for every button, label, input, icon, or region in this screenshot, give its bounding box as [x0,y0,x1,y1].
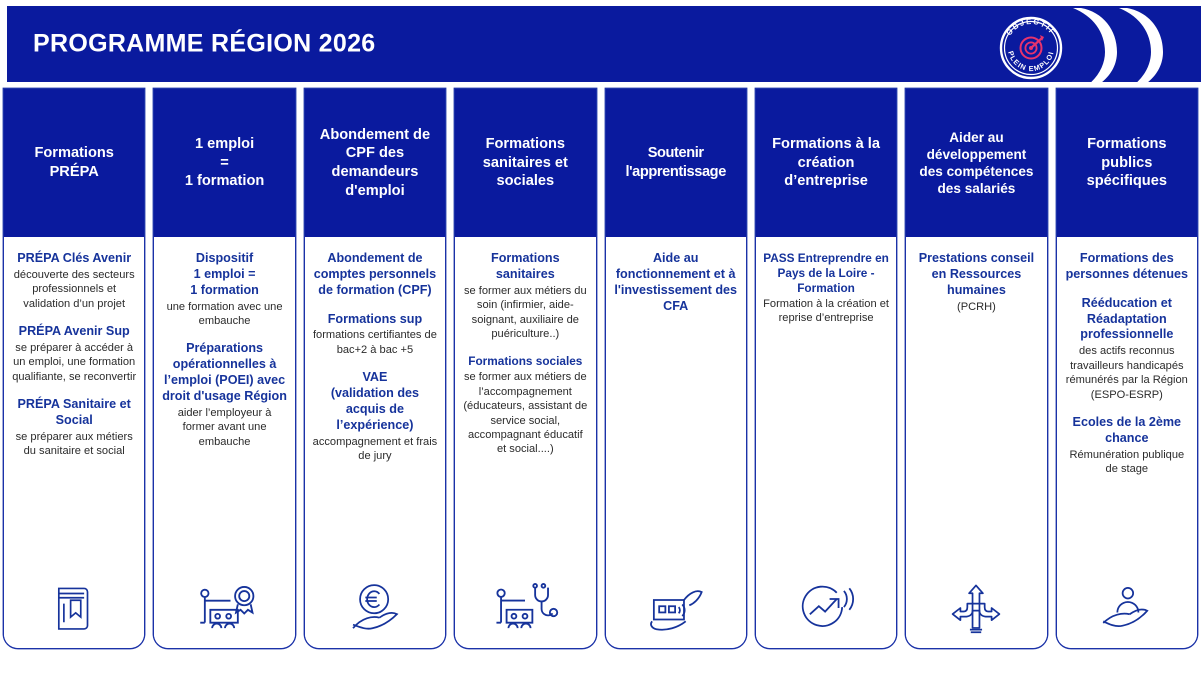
target-dart-icon [1021,35,1045,59]
block-title: PRÉPA Sanitaire et Social [11,397,137,429]
card-block: Aide au fonctionnement et à l'investisse… [613,251,739,314]
block-title: Formations sup [312,312,438,328]
brand-swoosh-marks [1073,8,1201,82]
block-title: PRÉPA Clés Avenir [11,251,137,267]
card-block: Prestations conseil en Ressources humain… [913,251,1039,314]
card-header: Formations sanitaires et sociales [455,89,595,237]
card-header: 1 emploi=1 formation [154,89,294,237]
card-block: Dispositif1 emploi =1 formation une form… [161,251,287,328]
three-way-arrows-icon [913,562,1039,648]
card-body: Abondement de comptes personnels de form… [305,237,445,648]
block-title: Ecoles de la 2ème chance [1064,415,1190,447]
card-block: Rééducation et Réadaptation professionne… [1064,296,1190,402]
block-subtitle: se former aux métiers de l’accompagnemen… [462,370,588,457]
card-1-emploi-1-formation[interactable]: 1 emploi=1 formation Dispositif1 emploi … [154,89,294,648]
block-title: Formations sanitaires [462,251,588,283]
card-block: PRÉPA Sanitaire et Social se préparer au… [11,397,137,459]
block-title: Formations sociales [462,354,588,369]
poster-root: PROGRAMME RÉGION 2026 OBJECTIF PLEIN EMP… [0,0,1201,680]
block-subtitle: découverte des secteurs professionnels e… [11,268,137,311]
block-subtitle: des actifs reconnus travailleurs handica… [1064,344,1190,402]
card-block: Formations des personnes détenues [1064,251,1190,283]
card-soutenir-apprentissage[interactable]: Soutenir l'apprentissage Aide au fonctio… [606,89,746,648]
block-subtitle: Rémunération publique de stage [1064,448,1190,477]
block-title: VAE(validation des acquis de l’expérienc… [312,370,438,433]
training-award-icon [161,562,287,648]
card-block: Abondement de comptes personnels de form… [312,251,438,299]
card-block: PRÉPA Avenir Sup se préparer à accéder à… [11,324,137,384]
block-title: Préparations opérationnelles à l’emploi … [161,341,287,404]
block-title: Formations des personnes détenues [1064,251,1190,283]
euro-hand-icon [312,562,438,648]
card-body: Formations des personnes détenues Rééduc… [1057,237,1197,648]
card-body: PASS Entreprendre en Pays de la Loire - … [756,237,896,648]
card-formations-sanitaires-sociales[interactable]: Formations sanitaires et sociales Format… [455,89,595,648]
block-title: Dispositif1 emploi =1 formation [161,251,287,299]
growth-arrow-icon [763,562,889,648]
card-formations-prepa[interactable]: Formations PRÉPA PRÉPA Clés Avenir décou… [4,89,144,648]
stethoscope-training-icon [462,562,588,648]
card-formations-creation-entreprise[interactable]: Formations à la création d’entreprise PA… [756,89,896,648]
card-formations-publics-specifiques[interactable]: Formations publics spécifiques Formation… [1057,89,1197,648]
card-header: Abondement de CPF des demandeurs d'emplo… [305,89,445,237]
svg-text:OBJECTIF: OBJECTIF [1004,17,1057,37]
block-subtitle: se préparer à accéder à un emploi, une f… [11,341,137,384]
objectif-plein-emploi-logo: OBJECTIF PLEIN EMPLOI [997,14,1065,82]
block-subtitle: se préparer aux métiers du sanitaire et … [11,430,137,459]
page-title: PROGRAMME RÉGION 2026 [33,30,375,59]
block-title: PRÉPA Avenir Sup [11,324,137,340]
block-subtitle: se former aux métiers du soin (infirmier… [462,284,588,342]
card-header: Formations à la création d’entreprise [756,89,896,237]
block-subtitle: formations certifiantes de bac+2 à bac +… [312,328,438,357]
card-body: Dispositif1 emploi =1 formation une form… [154,237,294,648]
card-header: Formations publics spécifiques [1057,89,1197,237]
block-subtitle: Formation à la création et reprise d’ent… [763,297,889,326]
block-title: Abondement de comptes personnels de form… [312,251,438,299]
block-title: Aide au fonctionnement et à l'investisse… [613,251,739,314]
logo-top-arc-text: OBJECTIF [1004,17,1057,37]
card-block: Formations sociales se former aux métier… [462,354,588,456]
card-body: Prestations conseil en Ressources humain… [906,237,1046,648]
card-abondement-cpf[interactable]: Abondement de CPF des demandeurs d'emplo… [305,89,445,648]
block-subtitle: aider l’employeur à former avant une emb… [161,406,287,449]
block-title: PASS Entreprendre en Pays de la Loire - … [763,251,889,296]
card-developpement-competences[interactable]: Aider au développement des compétences d… [906,89,1046,648]
card-block: PRÉPA Clés Avenir découverte des secteur… [11,251,137,311]
card-header: Formations PRÉPA [4,89,144,237]
card-block: Formations sup formations certifiantes d… [312,312,438,358]
card-header: Soutenir l'apprentissage [606,89,746,237]
block-title: Rééducation et Réadaptation professionne… [1064,296,1190,344]
program-cards-row: Formations PRÉPA PRÉPA Clés Avenir décou… [4,89,1197,648]
card-block: Préparations opérationnelles à l’emploi … [161,341,287,449]
card-body: PRÉPA Clés Avenir découverte des secteur… [4,237,144,648]
block-subtitle: accompagnement et frais de jury [312,435,438,464]
block-subtitle: une formation avec une embauche [161,300,287,329]
block-subtitle: (PCRH) [913,300,1039,314]
card-body: Aide au fonctionnement et à l'investisse… [606,237,746,648]
card-block: VAE(validation des acquis de l’expérienc… [312,370,438,463]
card-body: Formations sanitaires se former aux méti… [455,237,595,648]
header-banner: PROGRAMME RÉGION 2026 OBJECTIF PLEIN EMP… [7,6,1201,82]
person-hand-support-icon [1064,562,1190,648]
book-bookmark-icon [11,562,137,648]
card-header: Aider au développement des compétences d… [906,89,1046,237]
card-block: Formations sanitaires se former aux méti… [462,251,588,341]
block-title: Prestations conseil en Ressources humain… [913,251,1039,299]
hand-card-icon [613,562,739,648]
card-block: Ecoles de la 2ème chance Rémunération pu… [1064,415,1190,477]
card-block: PASS Entreprendre en Pays de la Loire - … [763,251,889,325]
